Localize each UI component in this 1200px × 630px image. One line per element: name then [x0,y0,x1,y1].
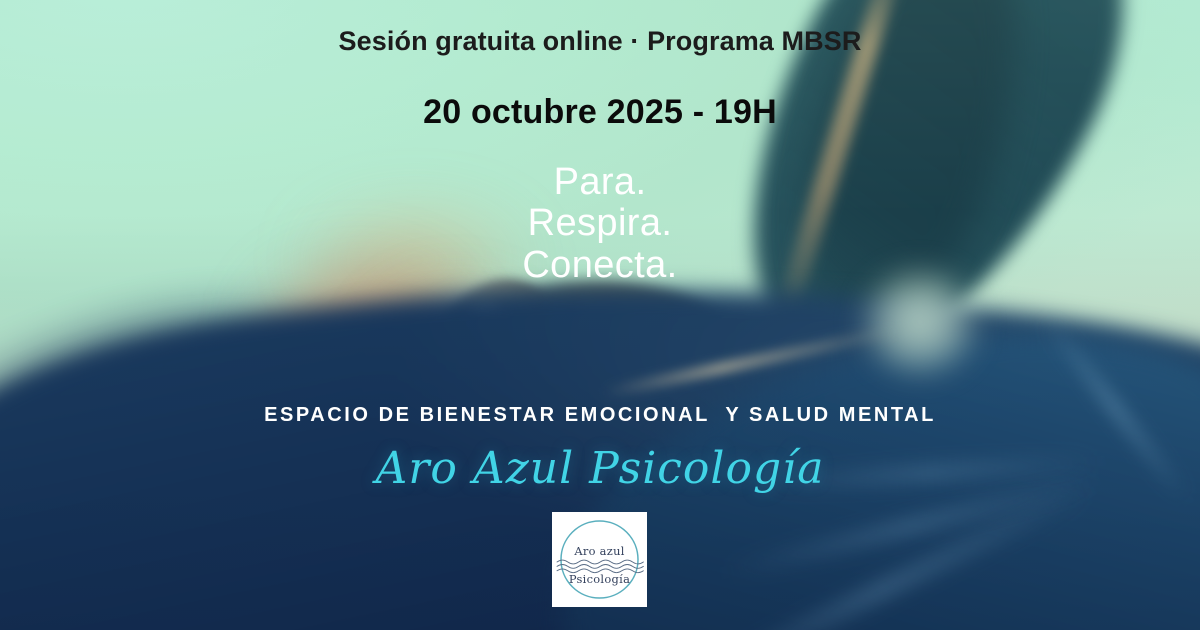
logo-icon: Aro azul Psicología [552,512,647,607]
logo-text-top: Aro azul [573,544,624,558]
logo-ring-icon [561,521,638,598]
logo-wave-icon [557,560,643,573]
poster-canvas: Sesión gratuita online · Programa MBSR 2… [0,0,1200,630]
slogan-line-1: Para. [0,162,1200,203]
slogan-block: Para. Respira. Conecta. [0,162,1200,286]
brand-name-script: Aro Azul Psicología [0,443,1200,494]
service-tagline: ESPACIO DE BIENESTAR EMOCIONAL Y SALUD M… [0,404,1200,427]
slogan-line-2: Respira. [0,203,1200,244]
slogan-line-3: Conecta. [0,245,1200,286]
logo-text-bottom: Psicología [569,572,630,586]
session-kicker: Sesión gratuita online · Programa MBSR [0,26,1200,57]
brand-logo-badge: Aro azul Psicología [552,512,647,607]
session-date: 20 octubre 2025 - 19H [0,93,1200,132]
